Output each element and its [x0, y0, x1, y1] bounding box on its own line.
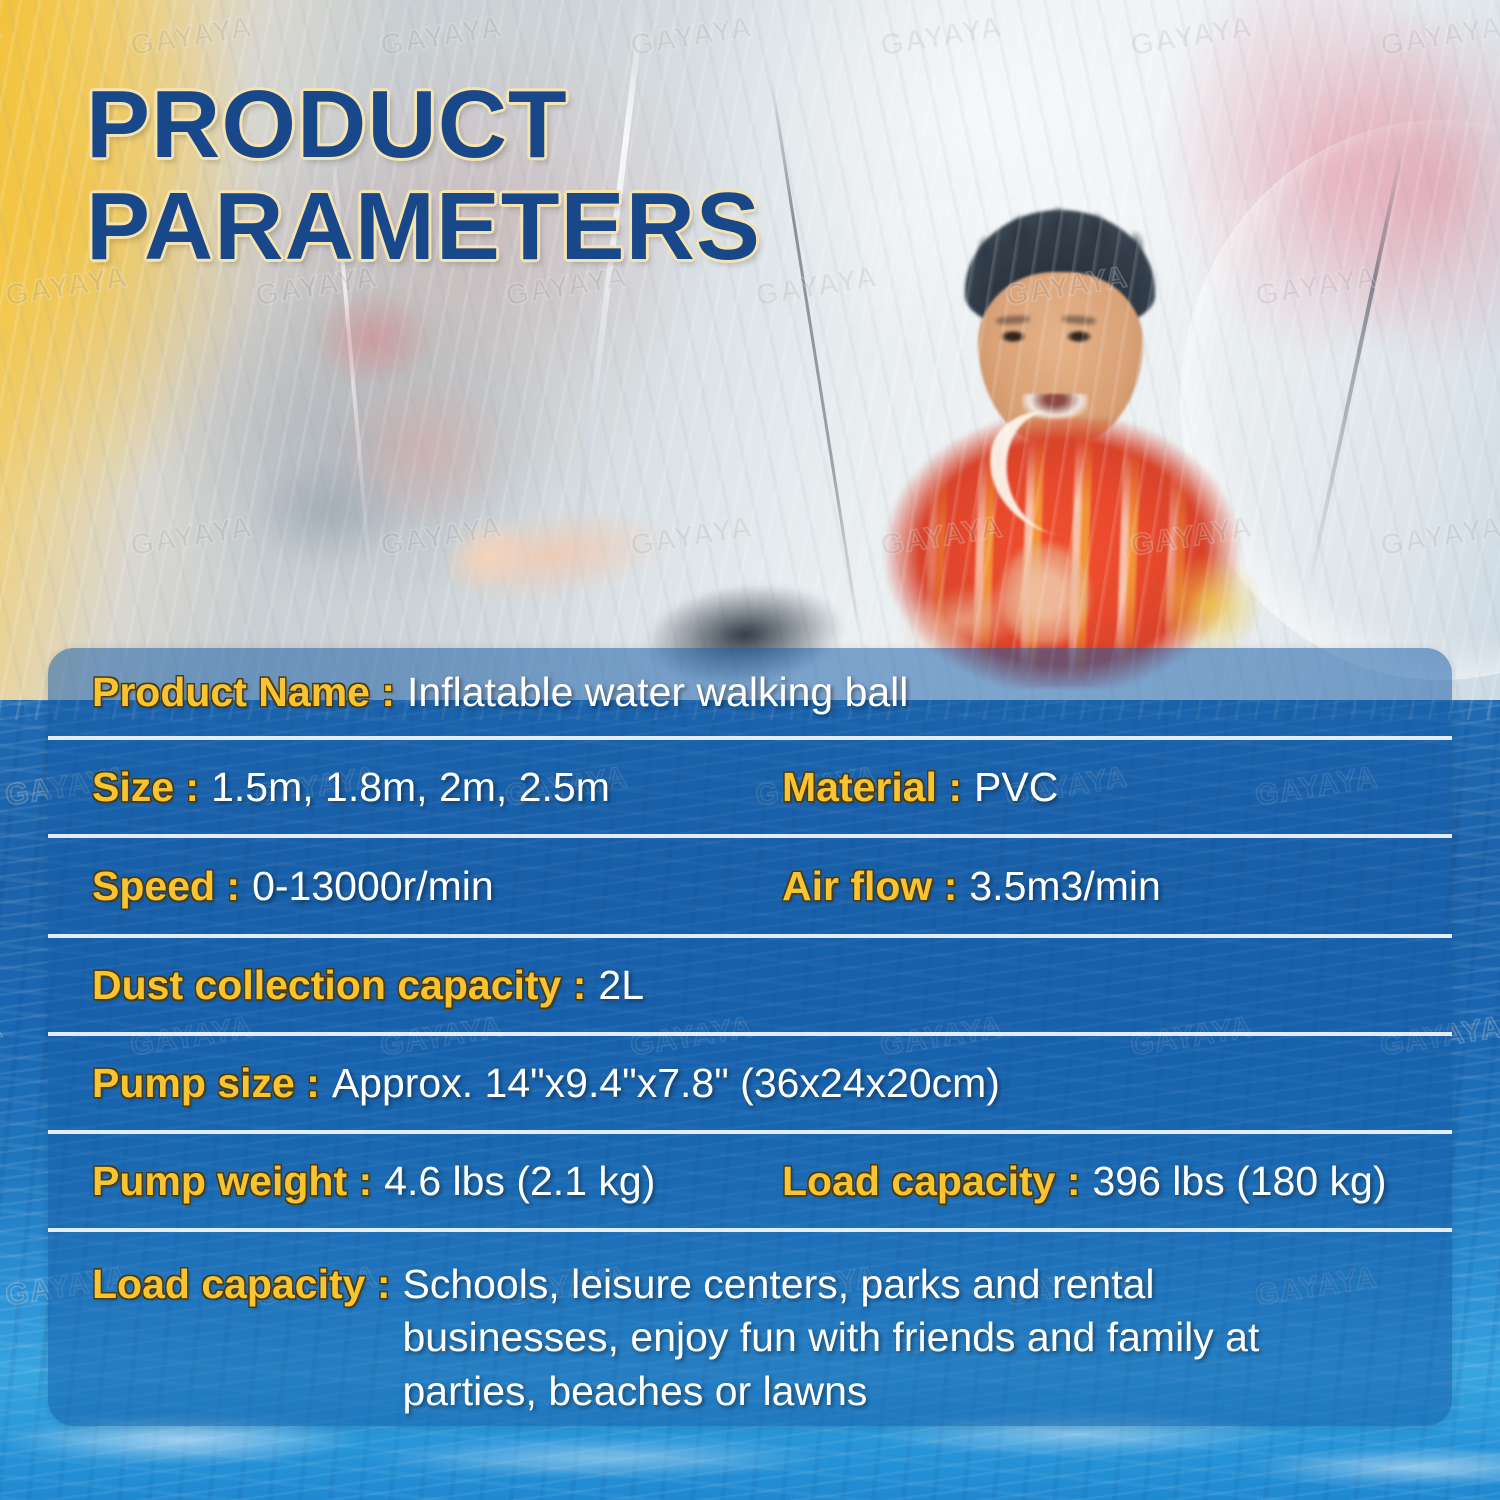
spec-row-pump-size: Pump size : Approx. 14"x9.4"x7.8" (36x24… — [48, 1032, 1452, 1130]
spec-value-air-flow: 3.5m3/min — [969, 863, 1160, 910]
spec-cell-load-capacity-usage: Load capacity : Schools, leisure centers… — [92, 1258, 1452, 1418]
spec-row-pump-weight-load-capacity: Pump weight : 4.6 lbs (2.1 kg) Load capa… — [48, 1130, 1452, 1228]
spec-row-dust-collection-capacity: Dust collection capacity : 2L — [48, 934, 1452, 1032]
spec-value-load-capacity-usage: Schools, leisure centers, parks and rent… — [402, 1258, 1302, 1418]
spec-value-pump-weight: 4.6 lbs (2.1 kg) — [384, 1158, 655, 1205]
page-title-line-2: PARAMETERS — [86, 176, 986, 278]
page-title-line-1: PRODUCT — [86, 74, 986, 176]
spec-cell-product-name: Product Name : Inflatable water walking … — [92, 669, 908, 716]
spec-label-dust-collection-capacity: Dust collection capacity : — [92, 962, 586, 1009]
spec-cell-dust-collection-capacity: Dust collection capacity : 2L — [92, 962, 782, 1009]
spec-value-size: 1.5m, 1.8m, 2m, 2.5m — [211, 764, 610, 811]
specification-panel: Product Name : Inflatable water walking … — [48, 648, 1452, 1426]
spec-cell-speed: Speed : 0-13000r/min — [92, 863, 782, 910]
spec-label-load-capacity-usage: Load capacity : — [92, 1258, 390, 1311]
spec-label-air-flow: Air flow : — [782, 863, 957, 910]
spec-value-product-name: Inflatable water walking ball — [407, 669, 908, 716]
page-title: PRODUCT PARAMETERS — [86, 74, 986, 278]
spec-cell-air-flow: Air flow : 3.5m3/min — [782, 863, 1452, 910]
spec-label-pump-weight: Pump weight : — [92, 1158, 372, 1205]
spec-label-speed: Speed : — [92, 863, 240, 910]
spec-value-load-capacity: 396 lbs (180 kg) — [1092, 1158, 1386, 1205]
spec-value-speed: 0-13000r/min — [252, 863, 494, 910]
product-parameters-banner: GAYAYAGAYAYAGAYAYAGAYAYAGAYAYAGAYAYAGAYA… — [0, 0, 1500, 1500]
spec-value-dust-collection-capacity: 2L — [598, 962, 644, 1009]
spec-row-size-material: Size : 1.5m, 1.8m, 2m, 2.5m Material : P… — [48, 736, 1452, 834]
spec-label-size: Size : — [92, 764, 199, 811]
spec-cell-load-capacity: Load capacity : 396 lbs (180 kg) — [782, 1158, 1452, 1205]
spec-row-product-name: Product Name : Inflatable water walking … — [48, 648, 1452, 736]
spec-cell-size: Size : 1.5m, 1.8m, 2m, 2.5m — [92, 764, 782, 811]
spec-label-load-capacity: Load capacity : — [782, 1158, 1080, 1205]
spec-value-material: PVC — [974, 764, 1058, 811]
spec-value-pump-size: Approx. 14"x9.4"x7.8" (36x24x20cm) — [332, 1060, 1000, 1107]
spec-label-material: Material : — [782, 764, 962, 811]
spec-row-speed-airflow: Speed : 0-13000r/min Air flow : 3.5m3/mi… — [48, 834, 1452, 934]
spec-label-pump-size: Pump size : — [92, 1060, 320, 1107]
spec-cell-pump-size: Pump size : Approx. 14"x9.4"x7.8" (36x24… — [92, 1060, 1000, 1107]
spec-cell-material: Material : PVC — [782, 764, 1452, 811]
spec-cell-pump-weight: Pump weight : 4.6 lbs (2.1 kg) — [92, 1158, 782, 1205]
spec-row-load-capacity-usage: Load capacity : Schools, leisure centers… — [48, 1228, 1452, 1422]
spec-label-product-name: Product Name : — [92, 669, 395, 716]
